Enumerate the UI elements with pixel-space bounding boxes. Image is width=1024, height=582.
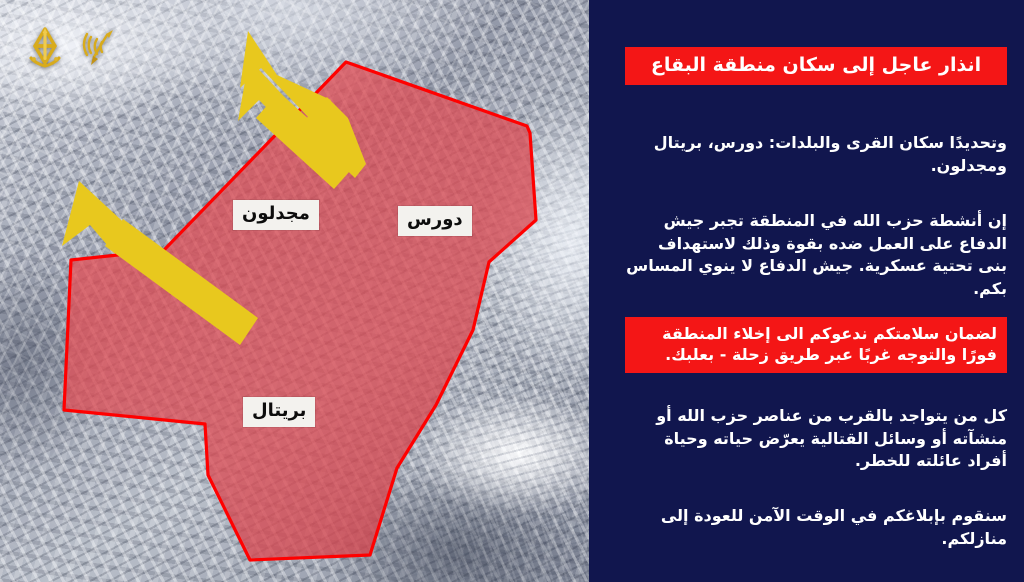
evacuation-instruction-banner: لضمان سلامتكم ندعوكم الى إخلاء المنطقة ف… bbox=[625, 317, 1007, 373]
evacuation-warning-poster: مجدلون دورس بريتال انذار عاجل إلى سكان م… bbox=[0, 0, 1024, 582]
map-label-brital: بريتال bbox=[243, 397, 315, 427]
map-overlay-graphics bbox=[0, 0, 589, 582]
map-label-majdaloun: مجدلون bbox=[233, 200, 319, 230]
safe-return-paragraph: سنقوم بإبلاغكم في الوقت الآمن للعودة إلى… bbox=[625, 505, 1007, 550]
satellite-map-panel: مجدلون دورس بريتال bbox=[0, 0, 589, 582]
warning-text-panel: انذار عاجل إلى سكان منطقة البقاع وتحديدً… bbox=[589, 0, 1024, 582]
idf-emblem bbox=[22, 24, 68, 74]
idf-spokesperson-broadcast-emblem bbox=[82, 26, 122, 72]
hezbollah-activity-paragraph: إن أنشطة حزب الله في المنطقة تجبر جيش ال… bbox=[625, 210, 1007, 301]
emblems-group bbox=[22, 24, 122, 74]
map-label-douris: دورس bbox=[398, 206, 472, 236]
villages-paragraph: وتحديدًا سكان القرى والبلدات: دورس، بريت… bbox=[625, 132, 1007, 177]
proximity-warning-paragraph: كل من يتواجد بالقرب من عناصر حزب الله أو… bbox=[625, 405, 1007, 473]
headline-banner: انذار عاجل إلى سكان منطقة البقاع bbox=[625, 47, 1007, 85]
